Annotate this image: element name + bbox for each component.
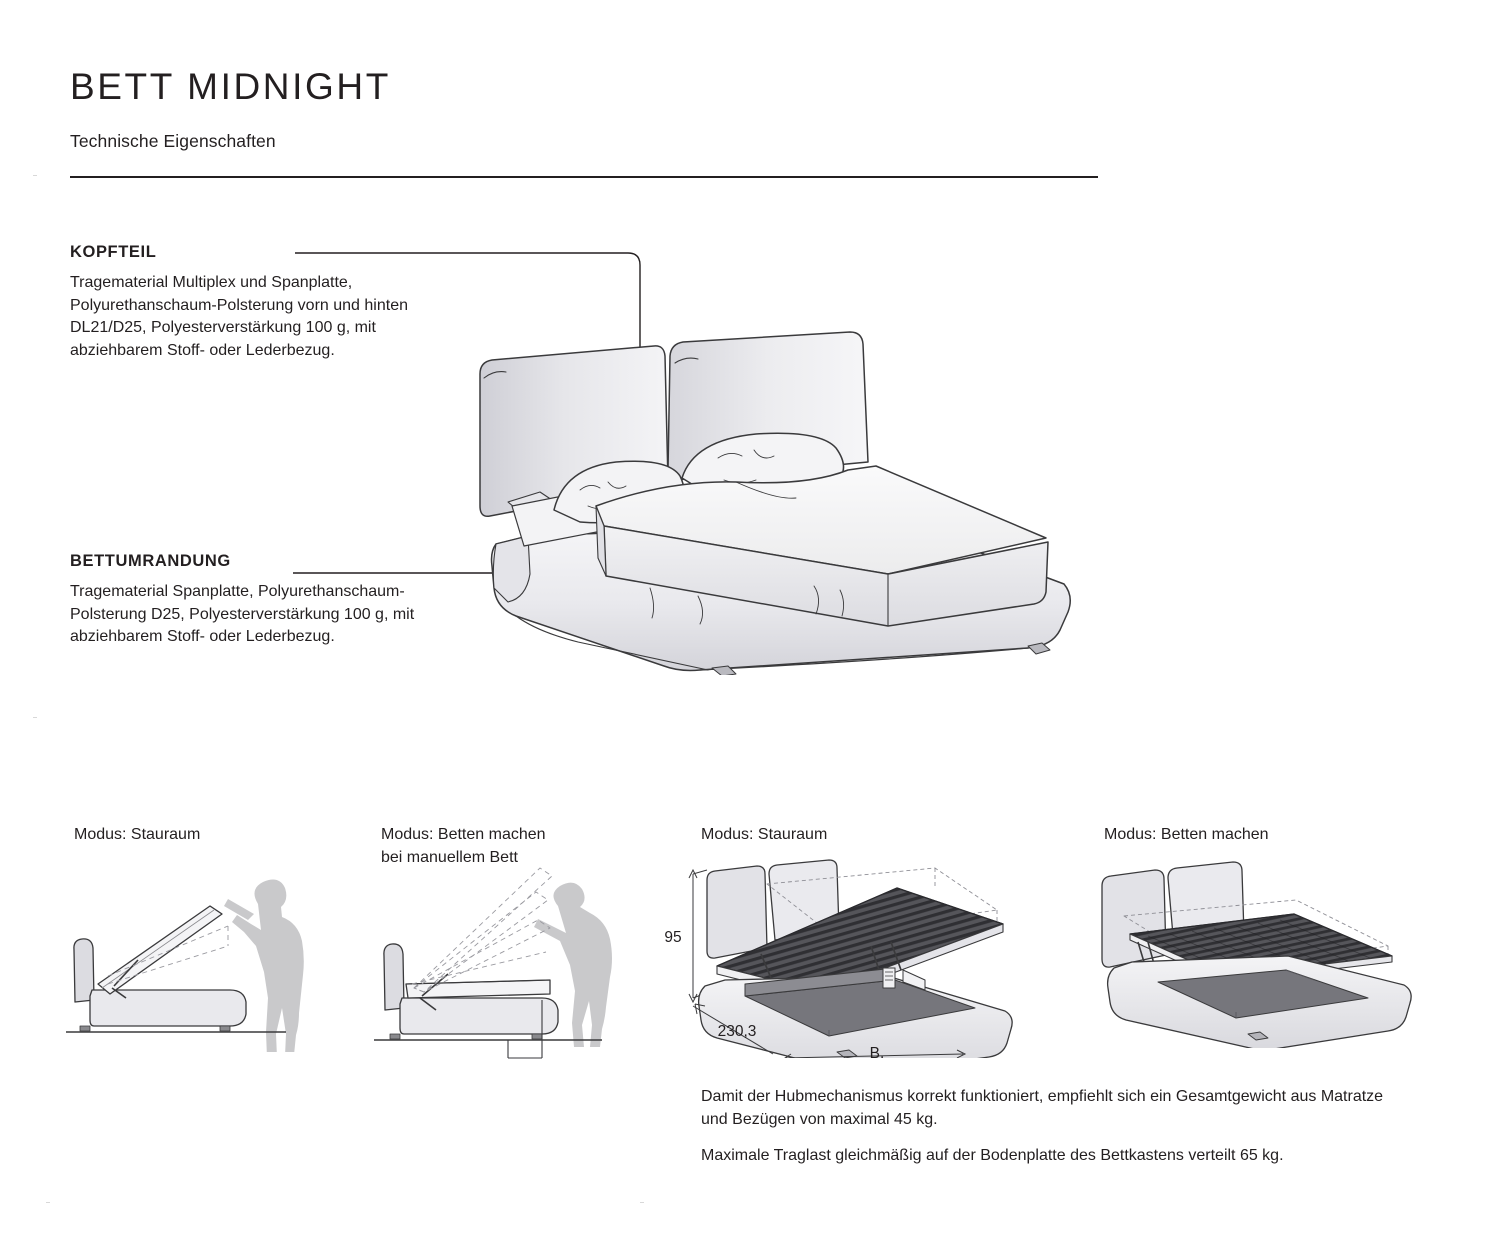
diagram-label-iso-bedmaking: Modus: Betten machen <box>1104 824 1269 847</box>
headboard-panel-left <box>1102 870 1166 967</box>
base-side <box>400 998 558 1034</box>
page-header: BETT MIDNIGHT Technische Eigenschaften <box>70 68 1100 152</box>
annotation-bettumrandung-body: Tragematerial Spanplatte, Polyurethansch… <box>70 581 422 649</box>
page-subtitle: Technische Eigenschaften <box>70 131 1100 152</box>
diagram-iso-bedmaking <box>1088 858 1438 1048</box>
dimension-width-label: B. <box>870 1045 885 1058</box>
diagram-label-iso-storage: Modus: Stauraum <box>701 824 827 847</box>
header-divider <box>70 176 1098 178</box>
technical-spec-page: BETT MIDNIGHT Technische Eigenschaften K… <box>0 0 1500 1250</box>
crop-mark <box>33 175 37 176</box>
diagram-iso-storage: 95 <box>645 858 1065 1058</box>
base-side <box>90 990 246 1026</box>
page-title: BETT MIDNIGHT <box>70 68 1100 107</box>
note-load-capacity: Maximale Traglast gleichmäßig auf der Bo… <box>701 1144 1391 1167</box>
dimension-height-label: 95 <box>664 929 681 946</box>
dimension-height <box>689 870 709 1002</box>
diagram-manual-storage <box>62 872 352 1052</box>
annotation-kopfteil-heading: KOPFTEIL <box>70 243 422 262</box>
lift-platform <box>98 906 222 994</box>
dimension-length-label: 230,3 <box>718 1023 757 1040</box>
annotation-kopfteil-body: Tragematerial Multiplex und Spanplatte, … <box>70 272 422 363</box>
headboard-panel-left <box>707 866 767 958</box>
annotation-bettumrandung: BETTUMRANDUNG Tragematerial Spanplatte, … <box>70 552 422 649</box>
crop-mark <box>640 1202 644 1203</box>
note-weight-limit: Damit der Hubmechanismus korrekt funktio… <box>701 1085 1391 1131</box>
annotation-kopfteil: KOPFTEIL Tragematerial Multiplex und Spa… <box>70 243 422 363</box>
annotation-bettumrandung-heading: BETTUMRANDUNG <box>70 552 422 571</box>
crop-mark <box>46 1202 50 1203</box>
crop-mark <box>33 717 37 718</box>
diagram-manual-bedmaking: 26 <box>370 862 660 1062</box>
diagram-label-manual-storage: Modus: Stauraum <box>74 824 200 847</box>
person-silhouette <box>232 880 304 1052</box>
bed-illustration-main <box>468 330 1088 675</box>
